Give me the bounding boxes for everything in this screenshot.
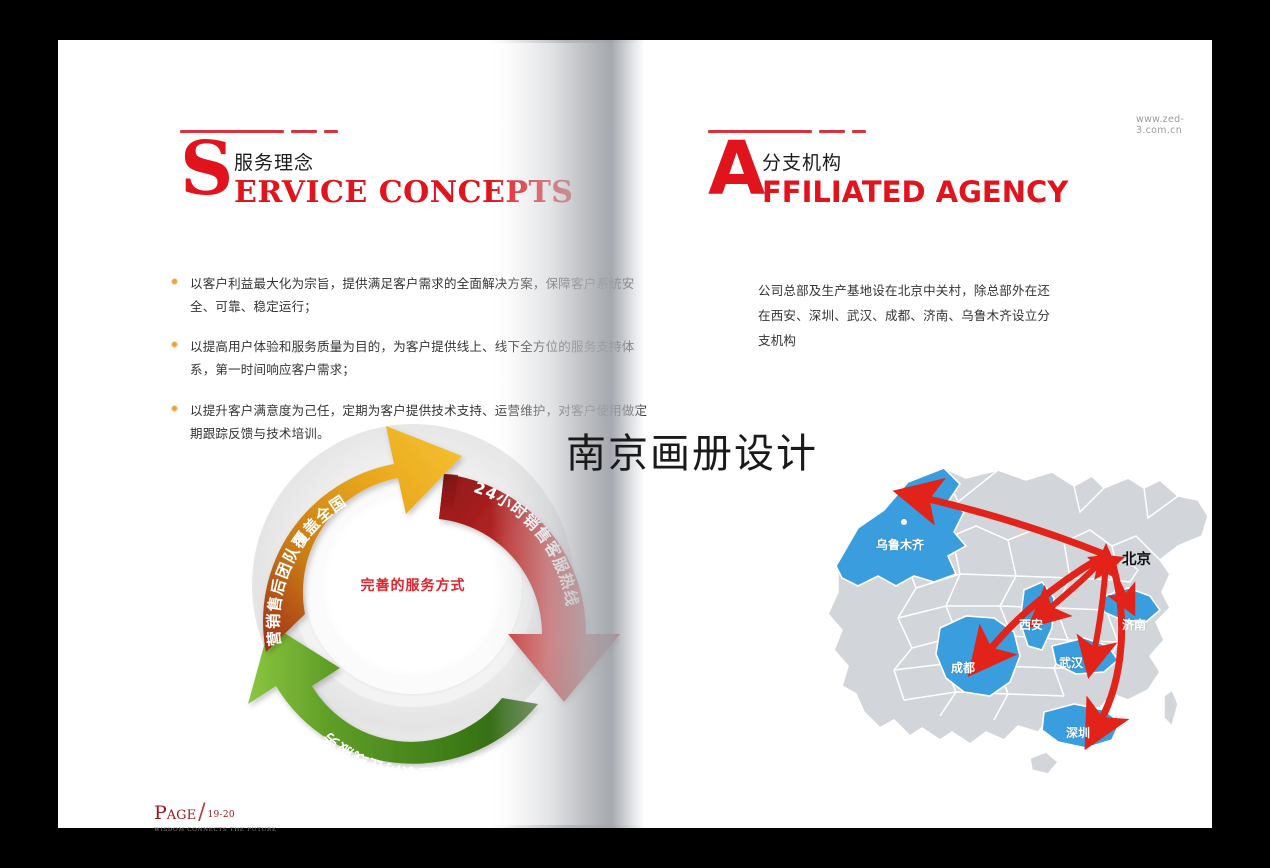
map-dot-jinan (1129, 603, 1134, 608)
map-province-xinjiang (836, 468, 966, 586)
map-dot-wuhan (1087, 657, 1092, 662)
affiliated-agency-heading: A 分支机构 FFILIATED AGENCY (708, 130, 866, 218)
heading-title-wrap: A 分支机构 FFILIATED AGENCY (708, 146, 866, 218)
website-url: www.zed-3.com.cn (1136, 114, 1212, 136)
heading-title-wrap: S 服务理念 ERVICE CONCEPTS (180, 146, 338, 218)
heading-initial: S (180, 140, 231, 199)
dash-medium (291, 130, 317, 133)
page-slash: / (198, 800, 205, 825)
map-island-taiwan (1164, 690, 1178, 726)
agency-paragraph: 公司总部及生产基地设在北京中关村，除总部外在还在西安、深圳、武汉、成都、济南、乌… (758, 278, 1058, 353)
dash-short (852, 130, 866, 133)
page-numbers: 19-20 (207, 810, 234, 820)
brochure-spread: S 服务理念 ERVICE CONCEPTS 以客户利益最大化为宗旨，提供满足客… (58, 40, 1212, 828)
map-label-beijing: 北京 (1122, 548, 1151, 569)
map-dot-xian (1035, 607, 1040, 612)
map-island-hainan (1030, 752, 1058, 774)
map-dot-urumqi (901, 519, 907, 525)
map-dot-shenzhen (1089, 729, 1094, 734)
map-dot-chengdu (981, 663, 986, 668)
service-concepts-heading: S 服务理念 ERVICE CONCEPTS (180, 130, 338, 218)
service-cycle-diagram: 24小时销售客服热线 7*9小时的互联网在线服务 营销售后团队覆盖全国 (208, 402, 620, 802)
list-item: 以客户利益最大化为宗旨，提供满足客户需求的全面解决方案，保障客户系统安全、可靠、… (172, 272, 652, 318)
screenshot-canvas: S 服务理念 ERVICE CONCEPTS 以客户利益最大化为宗旨，提供满足客… (0, 0, 1270, 868)
bullet-text: 以客户利益最大化为宗旨，提供满足客户需求的全面解决方案，保障客户系统安全、可靠、… (190, 272, 652, 318)
page-label: PAGE/19-20 (154, 802, 277, 824)
bullet-dot-icon (172, 406, 177, 411)
map-label-urumqi: 乌鲁木齐 (876, 536, 924, 553)
page-footer: PAGE/19-20 WISDOM CONNECTS THE FUTURE (154, 802, 277, 833)
bullet-dot-icon (172, 279, 177, 284)
list-item: 以提高用户体验和服务质量为目的，为客户提供线上、线下全方位的服务支持体系，第一时… (172, 335, 652, 381)
heading-cn-title: 分支机构 (762, 148, 842, 175)
heading-en-title: ERVICE CONCEPTS (234, 175, 573, 210)
map-label-jinan: 济南 (1122, 616, 1146, 633)
footer-tagline: WISDOM CONNECTS THE FUTURE (154, 827, 277, 833)
map-label-wuhan: 武汉 (1059, 654, 1083, 671)
heading-cn-title: 服务理念 (234, 148, 314, 175)
map-label-xian: 西安 (1019, 616, 1043, 633)
page-word: AGE (167, 808, 196, 823)
watermark-text: 南京画册设计 (566, 421, 818, 479)
dash-short (324, 130, 338, 133)
agency-description: 公司总部及生产基地设在北京中关村，除总部外在还在西安、深圳、武汉、成都、济南、乌… (758, 278, 1058, 353)
map-label-shenzhen: 深圳 (1066, 724, 1090, 741)
page-initial: P (154, 802, 167, 824)
heading-initial: A (708, 140, 761, 199)
bullet-dot-icon (172, 342, 177, 347)
cycle-center-label: 完善的服务方式 (320, 492, 506, 678)
map-label-chengdu: 成都 (951, 659, 975, 676)
heading-en-title: FFILIATED AGENCY (762, 175, 1068, 209)
dash-medium (819, 130, 845, 133)
bullet-text: 以提高用户体验和服务质量为目的，为客户提供线上、线下全方位的服务支持体系，第一时… (190, 335, 652, 381)
